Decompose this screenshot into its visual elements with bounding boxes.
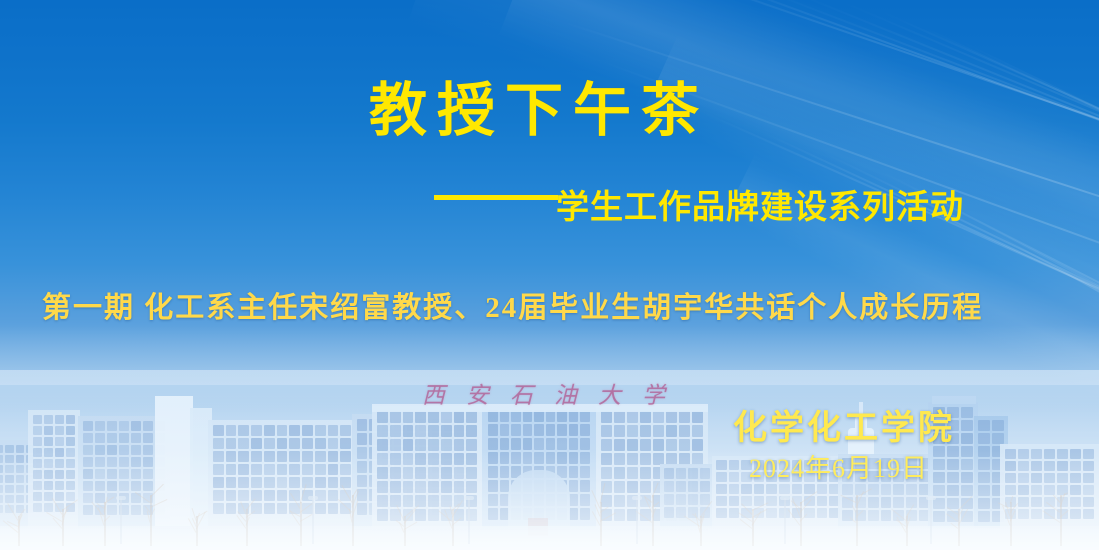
subtitle-dash-rule (434, 195, 558, 200)
poster-subtitle: 学生工作品牌建设系列活动 (556, 180, 964, 228)
organizer-name: 化学化工学院 (733, 400, 955, 449)
page-title: 教授下午茶 (369, 63, 709, 147)
session-description: 第一期 化工系主任宋绍富教授、24届毕业生胡宇华共话个人成长历程 (42, 284, 983, 326)
poster-canvas: 西安石油大学 教授下午茶 学生工作品牌建设系列活动 第一期 化工系主任宋绍富教授… (0, 0, 1099, 550)
event-date: 2024年6月19日 (749, 448, 928, 485)
campus-building-signage: 西安石油大学 (422, 376, 686, 410)
